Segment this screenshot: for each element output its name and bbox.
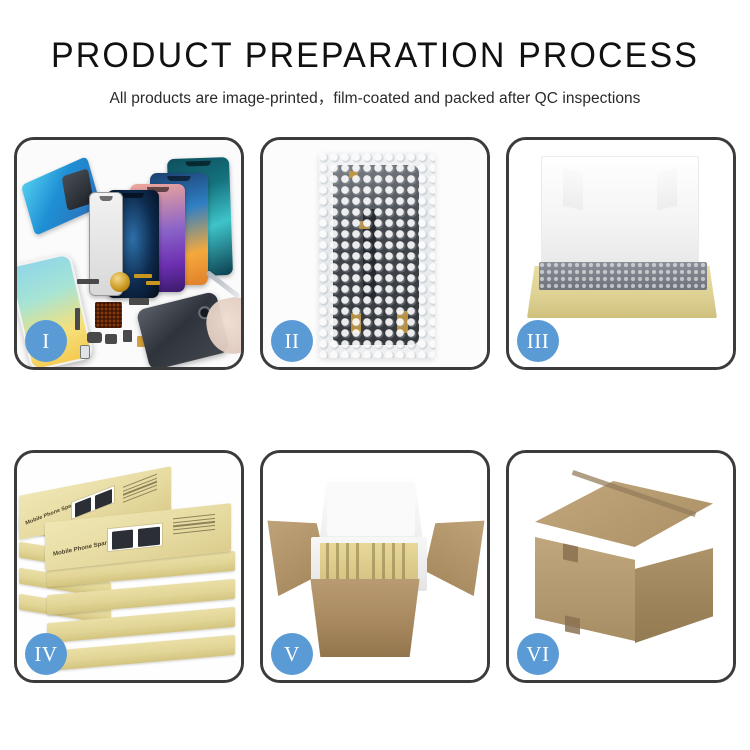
step-card-2[interactable]: II [260,137,490,370]
part-button [123,330,132,342]
box-label-window-rear [71,485,115,520]
step-badge-2: II [271,320,313,362]
logic-board-part-icon [95,302,122,328]
step-card-5[interactable]: V [260,450,490,683]
vibration-motor-part-icon [110,272,130,292]
carton-front-face [535,537,635,641]
grey-foam-padding [539,262,707,290]
carton-tape-lower [565,615,580,634]
part-strip-2 [75,308,80,330]
carton-flap-right [421,510,487,596]
box-label-window-front [107,522,163,552]
step-card-6[interactable]: VI [506,450,736,683]
carton-tape-upper [563,543,578,562]
part-strip-1 [77,279,99,284]
part-flex-gold-2 [146,281,160,285]
step-badge-5: V [271,633,313,675]
step-badge-3: III [517,320,559,362]
part-camera [105,334,117,344]
step-card-4[interactable]: Mobile Phone Spare Parts Mobile Phone Sp… [14,450,244,683]
part-flex-gold-1 [134,274,152,278]
foam-lid-open [319,475,423,543]
step-card-3[interactable]: III [506,137,736,370]
carton-body [303,579,427,657]
box-label-lines-rear [123,474,157,506]
header: PRODUCT PREPARATION PROCESS All products… [0,0,750,108]
process-steps-grid: I II [14,137,736,683]
inner-yellow-boxes [320,543,418,583]
product-preparation-infographic: PRODUCT PREPARATION PROCESS All products… [0,0,750,750]
bubble-texture [319,153,435,358]
carton-side-face [635,548,713,643]
box-label-lines-front [173,514,215,537]
step-badge-1: I [25,320,67,362]
box-lid-white [541,156,699,276]
page-title: PRODUCT PREPARATION PROCESS [11,38,739,73]
page-subtitle: All products are image-printed，film-coat… [0,86,750,108]
part-glass-chip [80,345,90,359]
step-card-1[interactable]: I [14,137,244,370]
step-badge-4: IV [25,633,67,675]
step-badge-6: VI [517,633,559,675]
bubble-wrap-bag [319,153,435,358]
part-speaker [87,332,102,343]
part-flex-2 [129,298,149,305]
